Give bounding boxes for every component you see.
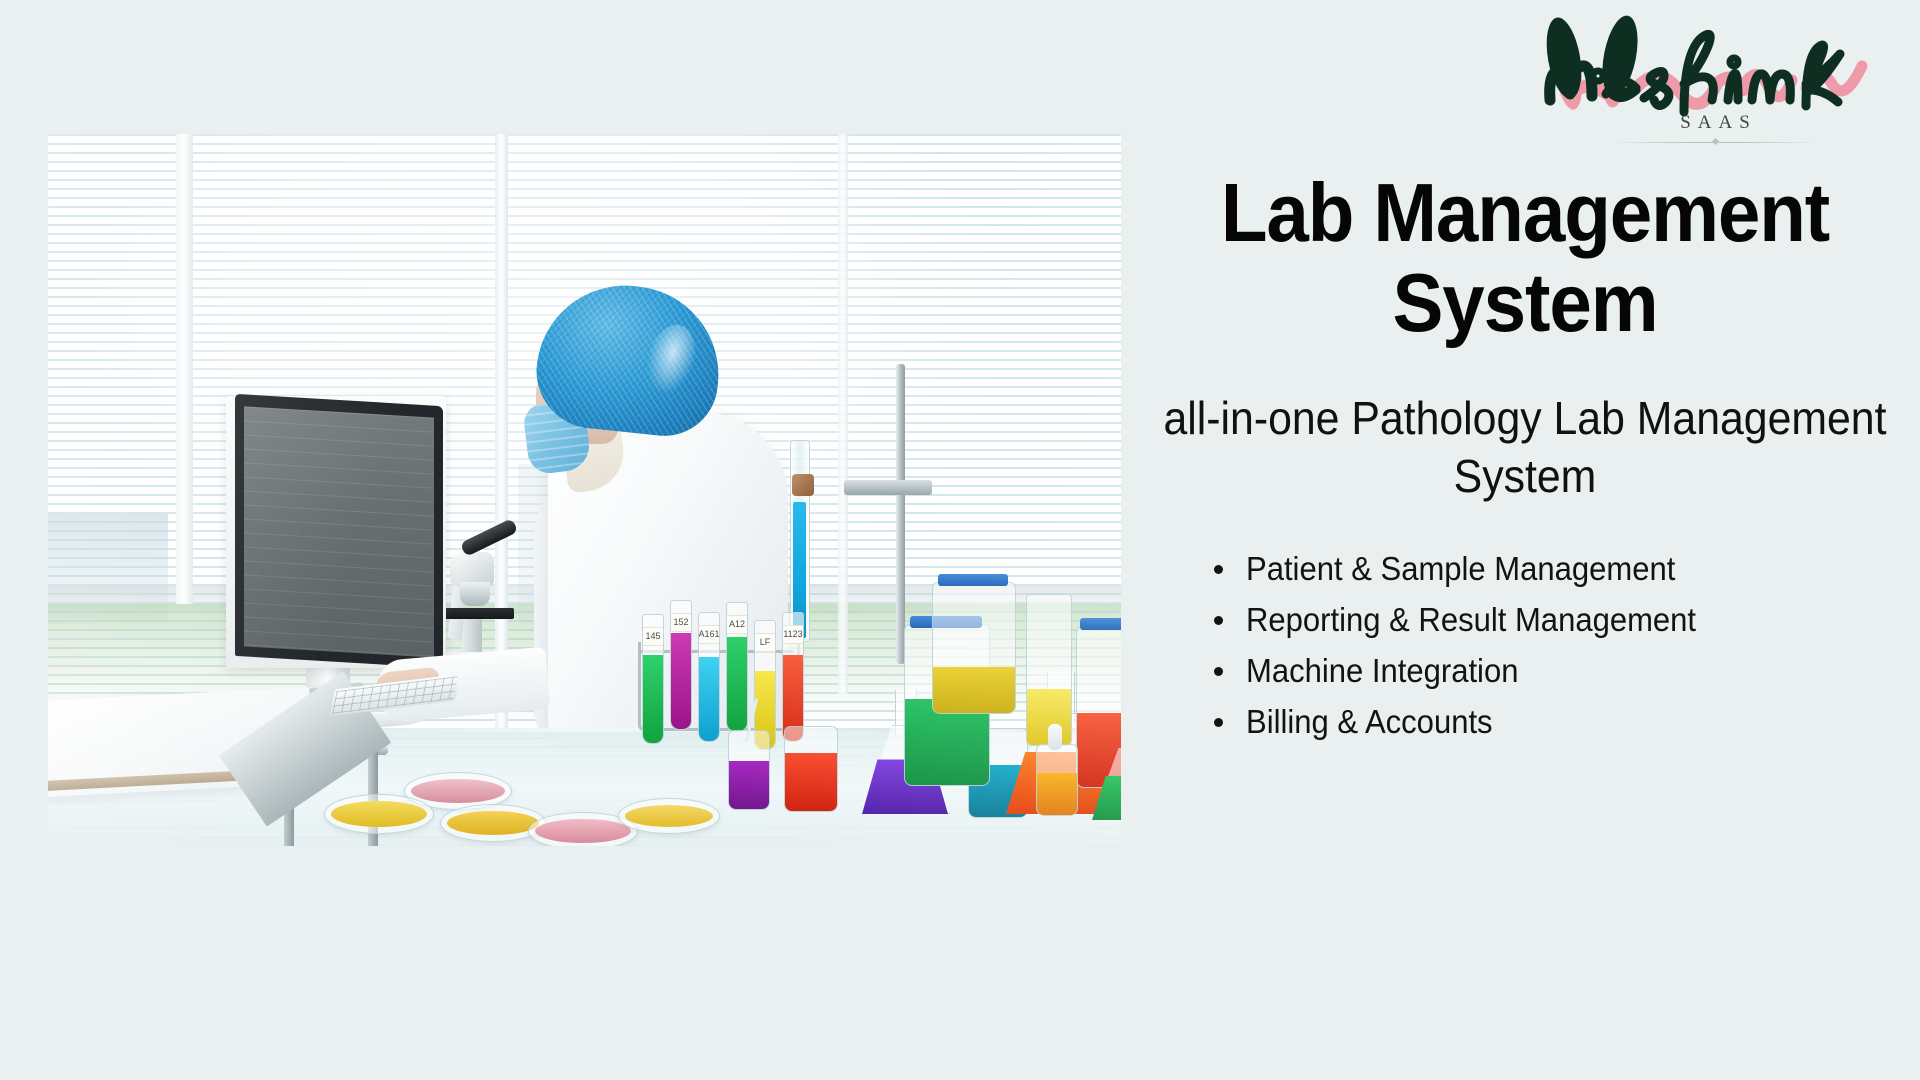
hero-photo: 145 152 A161 A12 LF 125 1123 bbox=[48, 134, 1121, 846]
retort-stand-rod bbox=[896, 364, 905, 664]
test-tube: 1123 bbox=[782, 612, 804, 742]
window-mullion bbox=[838, 134, 848, 694]
list-item: Reporting & Result Management bbox=[1130, 601, 1920, 640]
window-mullion bbox=[176, 134, 193, 604]
brand-tagline: SAAS bbox=[1520, 112, 1910, 134]
meshink-script-logo-icon bbox=[1520, 8, 1910, 118]
test-tube-label: 145 bbox=[642, 627, 664, 646]
page-title: Lab Management System bbox=[1162, 168, 1889, 349]
list-item: Machine Integration bbox=[1130, 652, 1920, 691]
petri-dish bbox=[618, 798, 720, 834]
erlenmeyer-flask bbox=[1092, 720, 1121, 820]
test-tube: 152 bbox=[670, 600, 692, 730]
graduated-cylinder bbox=[1026, 594, 1072, 746]
feature-list: Patient & Sample Management Reporting & … bbox=[1130, 550, 1920, 742]
flask-fluid bbox=[1092, 776, 1121, 820]
test-tube: A161 bbox=[698, 612, 720, 742]
reagent-fluid bbox=[729, 761, 769, 809]
lab-bottle bbox=[932, 582, 1016, 714]
test-tube-label: A161 bbox=[698, 625, 720, 644]
test-tube-label: A12 bbox=[726, 615, 748, 634]
test-tube: 145 bbox=[642, 614, 664, 744]
microscope-head bbox=[450, 552, 494, 586]
bottle-fluid bbox=[933, 667, 1015, 713]
test-tube-label: LF 125 bbox=[754, 633, 776, 652]
bottle-cap bbox=[938, 574, 1008, 586]
reagent-bottle bbox=[728, 730, 770, 810]
monitor-screen bbox=[244, 406, 434, 657]
brand-logo[interactable]: SAAS bbox=[1520, 8, 1910, 160]
dropper-fluid bbox=[1037, 773, 1077, 815]
page-subtitle: all-in-one Pathology Lab Management Syst… bbox=[1158, 389, 1893, 506]
logo-divider-dot bbox=[1712, 138, 1719, 145]
test-tube-label: 152 bbox=[670, 613, 692, 632]
dropper-cap bbox=[1048, 724, 1062, 750]
feature-label: Machine Integration bbox=[1246, 652, 1518, 691]
list-item: Patient & Sample Management bbox=[1130, 550, 1920, 589]
microscope-stage bbox=[444, 608, 514, 619]
dropper-bottle bbox=[1036, 744, 1078, 816]
hero-text-column: Lab Management System all-in-one Patholo… bbox=[1130, 168, 1920, 754]
blue-hair-net bbox=[531, 277, 727, 441]
window-mullion bbox=[495, 134, 508, 734]
reagent-fluid bbox=[785, 753, 837, 811]
slide-canvas: SAAS bbox=[0, 0, 1920, 1080]
petri-dish bbox=[324, 794, 434, 834]
bottle-cap bbox=[1080, 618, 1121, 630]
burette-clamp-knob bbox=[792, 474, 814, 496]
feature-label: Reporting & Result Management bbox=[1246, 601, 1696, 640]
burette-clamp bbox=[844, 480, 932, 495]
test-tube-label: 1123 bbox=[782, 625, 804, 644]
feature-label: Patient & Sample Management bbox=[1246, 550, 1675, 589]
reagent-bottle bbox=[784, 726, 838, 812]
test-tube: A12 bbox=[726, 602, 748, 732]
microscope-objective bbox=[460, 582, 490, 606]
list-item: Billing & Accounts bbox=[1130, 703, 1920, 742]
feature-label: Billing & Accounts bbox=[1246, 703, 1493, 742]
